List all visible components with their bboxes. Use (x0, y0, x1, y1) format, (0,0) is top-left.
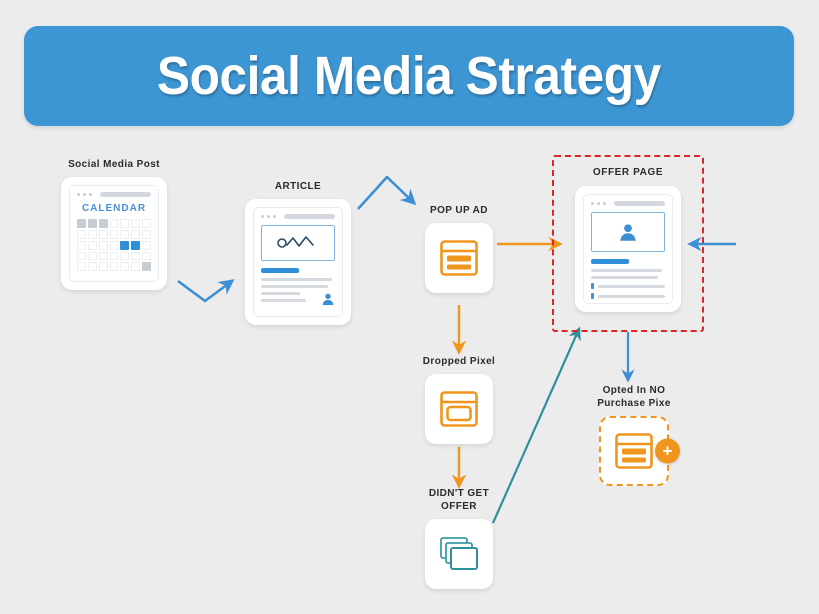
offer-page-icon (583, 194, 673, 304)
calendar-cell (88, 252, 97, 261)
calendar-cell (120, 262, 129, 271)
calendar-cell (110, 241, 119, 250)
calendar-cell (142, 241, 151, 250)
opted-in-no-purchase-card[interactable]: + (599, 416, 669, 486)
browser-chrome (77, 192, 151, 197)
node-article[interactable]: ARTICLE (238, 180, 358, 325)
article-text-line (261, 278, 332, 281)
calendar-cell (142, 219, 151, 228)
list-marker-icon (591, 293, 594, 299)
article-card[interactable] (245, 199, 351, 325)
calendar-cell (120, 230, 129, 239)
chrome-dot (603, 202, 606, 205)
calendar-cell-selected (120, 241, 129, 250)
page-title: Social Media Strategy (157, 45, 661, 107)
calendar-cell (131, 230, 140, 239)
connector-post-to-article (178, 281, 232, 301)
calendar-cell (120, 252, 129, 261)
article-footer-row (261, 292, 335, 306)
chart-thumbnail-icon (261, 225, 335, 261)
calendar-cell-selected (131, 241, 140, 250)
didnt-get-offer-card[interactable] (425, 519, 493, 589)
add-plus-badge-icon[interactable]: + (655, 439, 680, 464)
article-page-icon (253, 207, 343, 317)
chrome-dot (267, 215, 270, 218)
article-footer-lines (261, 292, 317, 306)
calendar-cell (77, 252, 86, 261)
node-social-media-post[interactable]: Social Media Post CALENDAR (54, 158, 174, 290)
stacked-windows-icon (439, 536, 479, 572)
calendar-cell (110, 262, 119, 271)
node-offer-page[interactable] (568, 186, 688, 312)
browser-chrome (591, 201, 665, 206)
popup-window-icon (615, 433, 653, 469)
opted-in-no-purchase-label: Opted In NO Purchase Pixe (574, 384, 694, 410)
calendar-cell (142, 230, 151, 239)
node-popup-ad[interactable]: POP UP AD (399, 204, 519, 293)
social-media-post-label: Social Media Post (54, 158, 174, 171)
offer-page-card[interactable] (575, 186, 681, 312)
popup-ad-card[interactable] (425, 223, 493, 293)
pixel-window-icon (440, 391, 478, 427)
chrome-dot (89, 193, 92, 196)
offer-hero-box (591, 212, 665, 252)
dropped-pixel-card[interactable] (425, 374, 493, 444)
calendar-cell (110, 252, 119, 261)
browser-chrome (261, 214, 335, 219)
chrome-dot (273, 215, 276, 218)
chrome-dot (261, 215, 264, 218)
node-dropped-pixel[interactable]: Dropped Pixel (399, 355, 519, 444)
calendar-cell (142, 262, 151, 271)
calendar-cell (142, 252, 151, 261)
offer-page-group-label: OFFER PAGE (554, 167, 702, 178)
avatar-person-icon (321, 292, 335, 306)
chrome-urlbar (614, 201, 665, 206)
chrome-urlbar (284, 214, 335, 219)
calendar-cell (131, 252, 140, 261)
calendar-grid (77, 219, 151, 271)
social-media-post-card[interactable]: CALENDAR (61, 177, 167, 290)
chrome-dot (591, 202, 594, 205)
calendar-cell (99, 252, 108, 261)
offer-list-item (591, 293, 665, 299)
calendar-cell (99, 262, 108, 271)
calendar-page-icon: CALENDAR (69, 185, 159, 282)
calendar-cell (88, 241, 97, 250)
offer-text-line (598, 285, 665, 288)
article-headline-bar (261, 268, 299, 273)
popup-ad-label: POP UP AD (399, 204, 519, 217)
calendar-cell (131, 262, 140, 271)
calendar-cell (120, 219, 129, 228)
offer-text-line (591, 276, 658, 279)
calendar-cell (77, 219, 86, 228)
chrome-dot (83, 193, 86, 196)
calendar-cell (110, 219, 119, 228)
offer-text-line (598, 295, 665, 298)
calendar-cell (77, 262, 86, 271)
calendar-cell (131, 219, 140, 228)
avatar-person-icon (618, 222, 638, 242)
chrome-dot (597, 202, 600, 205)
didnt-get-offer-label: DIDN'T GET OFFER (399, 487, 519, 513)
calendar-cell (88, 230, 97, 239)
article-text-line (261, 285, 328, 288)
node-didnt-get-offer[interactable]: DIDN'T GET OFFER (399, 487, 519, 589)
calendar-cell (110, 230, 119, 239)
calendar-cell (99, 241, 108, 250)
article-text-line (261, 299, 306, 302)
calendar-cell (99, 219, 108, 228)
offer-headline-bar (591, 259, 629, 264)
list-marker-icon (591, 283, 594, 289)
diagram-canvas: Social Media Strategy (0, 0, 819, 614)
chrome-dot (77, 193, 80, 196)
calendar-cell (88, 262, 97, 271)
offer-text-line (591, 269, 662, 272)
calendar-cell (99, 230, 108, 239)
chrome-urlbar (100, 192, 151, 197)
calendar-cell (88, 219, 97, 228)
calendar-cell (77, 230, 86, 239)
node-opted-in-no-purchase[interactable]: Opted In NO Purchase Pixe + (574, 384, 694, 486)
line-chart-glyph (275, 234, 321, 252)
article-text-line (261, 292, 300, 295)
title-banner: Social Media Strategy (24, 26, 794, 126)
calendar-title: CALENDAR (77, 203, 151, 214)
dropped-pixel-label: Dropped Pixel (399, 355, 519, 368)
calendar-cell (77, 241, 86, 250)
popup-window-icon (440, 240, 478, 276)
article-label: ARTICLE (238, 180, 358, 193)
offer-list-item (591, 283, 665, 289)
